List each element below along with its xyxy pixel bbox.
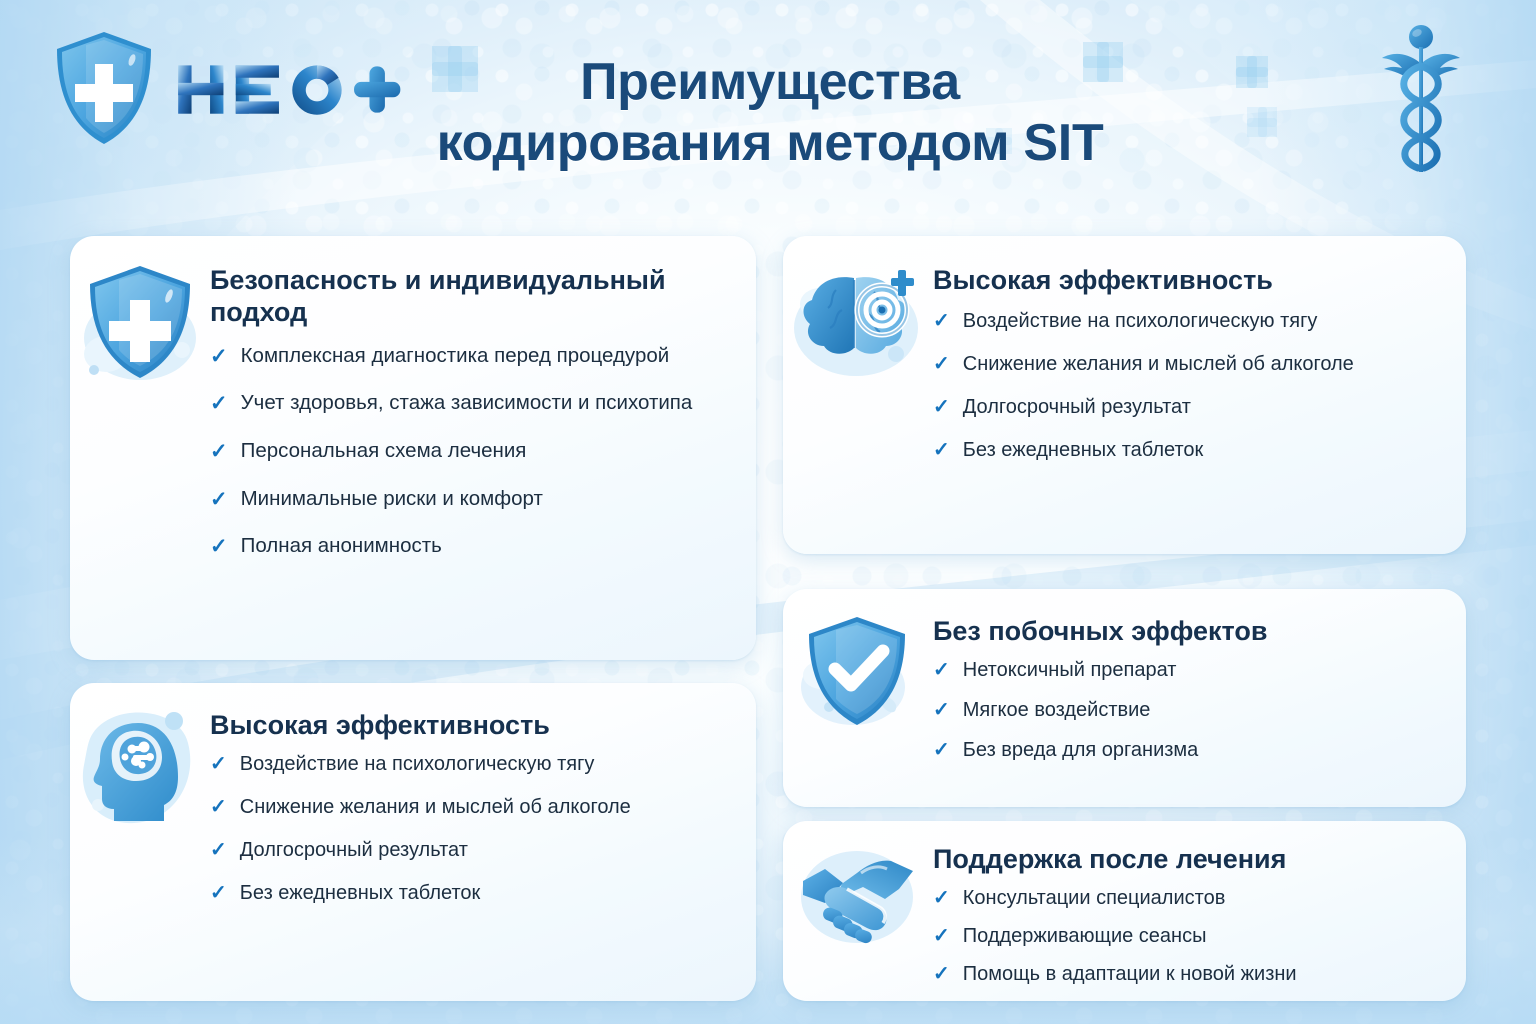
- list-item-label: Полная анонимность: [241, 533, 730, 560]
- list-item: ✓ Поддерживающие сеансы: [933, 923, 1448, 949]
- check-icon: ✓: [210, 880, 227, 903]
- list-item: ✓ Нетоксичный препарат: [933, 657, 1446, 683]
- card-icon-wrap: [783, 821, 933, 1001]
- check-icon: ✓: [933, 437, 950, 460]
- head-brain-icon: [76, 701, 204, 831]
- check-icon: ✓: [210, 343, 228, 367]
- list-item: ✓ Долгосрочный результат: [210, 837, 734, 863]
- list-item: ✓ Без вреда для организма: [933, 737, 1446, 763]
- card-icon-wrap: [783, 236, 933, 554]
- check-icon: ✓: [210, 390, 228, 414]
- list-item-label: Воздействие на психологическую тягу: [240, 751, 734, 777]
- check-icon: ✓: [933, 885, 950, 908]
- list-item: ✓ Учет здоровья, стажа зависимости и пси…: [210, 390, 730, 417]
- card-effectiveness-left[interactable]: Высокая эффективность ✓ Воздействие на п…: [70, 683, 756, 1001]
- bullet-list: ✓ Консультации специалистов ✓ Поддержива…: [933, 885, 1448, 987]
- check-icon: ✓: [933, 923, 950, 946]
- card-effectiveness-right[interactable]: Высокая эффективность ✓ Воздействие на п…: [783, 236, 1466, 554]
- list-item: ✓ Полная анонимность: [210, 533, 730, 560]
- list-item: ✓ Консультации специалистов: [933, 885, 1448, 911]
- list-item: ✓ Воздействие на психологическую тягу: [933, 308, 1446, 334]
- list-item-label: Помощь в адаптации к новой жизни: [963, 961, 1448, 987]
- card-title: Без побочных эффектов: [933, 615, 1446, 647]
- list-item-label: Учет здоровья, стажа зависимости и психо…: [241, 390, 730, 417]
- card-icon-wrap: [70, 683, 210, 1001]
- card-title: Высокая эффективность: [210, 709, 734, 741]
- list-item-label: Консультации специалистов: [963, 885, 1448, 911]
- list-item-label: Воздействие на психологическую тягу: [963, 308, 1446, 334]
- check-icon: ✓: [210, 837, 227, 860]
- page-title-line-1: Преимущества: [580, 53, 960, 111]
- bullet-list: ✓ Комплексная диагностика перед процедур…: [210, 343, 730, 560]
- card-support[interactable]: Поддержка после лечения ✓ Консультации с…: [783, 821, 1466, 1001]
- check-icon: ✓: [933, 394, 950, 417]
- list-item-label: Комплексная диагностика перед процедурой: [241, 343, 730, 370]
- list-item: ✓ Мягкое воздействие: [933, 697, 1446, 723]
- check-icon: ✓: [933, 697, 950, 720]
- list-item-label: Долгосрочный результат: [963, 394, 1446, 420]
- card-title: Поддержка после лечения: [933, 843, 1448, 875]
- card-title: Безопасность и индивидуальный подход: [210, 264, 730, 329]
- shield-cross-icon: [76, 258, 204, 390]
- list-item-label: Персональная схема лечения: [241, 438, 730, 465]
- card-icon-wrap: [70, 236, 210, 660]
- list-item: ✓ Персональная схема лечения: [210, 438, 730, 465]
- shield-cross-icon: [50, 28, 158, 148]
- check-icon: ✓: [933, 657, 950, 680]
- list-item-label: Минимальные риски и комфорт: [241, 486, 730, 513]
- brain-target-icon: [790, 258, 926, 384]
- check-icon: ✓: [933, 351, 950, 374]
- check-icon: ✓: [210, 486, 228, 510]
- bullet-list: ✓ Нетоксичный препарат ✓ Мягкое воздейст…: [933, 657, 1446, 763]
- list-item: ✓ Снижение желания и мыслей об алкоголе: [933, 351, 1446, 377]
- list-item-label: Без вреда для организма: [963, 737, 1446, 763]
- list-item: ✓ Без ежедневных таблеток: [210, 880, 734, 906]
- shield-check-icon: [795, 609, 921, 735]
- list-item-label: Мягкое воздействие: [963, 697, 1446, 723]
- infographic-canvas: Преимущества кодирования методом SIT: [0, 0, 1536, 1024]
- list-item: ✓ Воздействие на психологическую тягу: [210, 751, 734, 777]
- check-icon: ✓: [933, 737, 950, 760]
- list-item-label: Без ежедневных таблеток: [963, 437, 1446, 463]
- page-title: Преимущества кодирования методом SIT: [330, 52, 1210, 175]
- card-safety[interactable]: Безопасность и индивидуальный подход ✓ К…: [70, 236, 756, 660]
- check-icon: ✓: [210, 794, 227, 817]
- check-icon: ✓: [210, 751, 227, 774]
- card-no-side-effects[interactable]: Без побочных эффектов ✓ Нетоксичный преп…: [783, 589, 1466, 807]
- list-item-label: Поддерживающие сеансы: [963, 923, 1448, 949]
- check-icon: ✓: [210, 533, 228, 557]
- page-header: Преимущества кодирования методом SIT: [0, 0, 1536, 215]
- list-item: ✓ Комплексная диагностика перед процедур…: [210, 343, 730, 370]
- list-item: ✓ Долгосрочный результат: [933, 394, 1446, 420]
- list-item-label: Нетоксичный препарат: [963, 657, 1446, 683]
- bullet-list: ✓ Воздействие на психологическую тягу ✓ …: [210, 751, 734, 906]
- caduceus-icon: [1378, 22, 1464, 187]
- check-icon: ✓: [210, 438, 228, 462]
- list-item-label: Без ежедневных таблеток: [240, 880, 734, 906]
- bullet-list: ✓ Воздействие на психологическую тягу ✓ …: [933, 308, 1446, 463]
- check-icon: ✓: [933, 308, 950, 331]
- card-icon-wrap: [783, 589, 933, 807]
- list-item: ✓ Минимальные риски и комфорт: [210, 486, 730, 513]
- list-item-label: Долгосрочный результат: [240, 837, 734, 863]
- check-icon: ✓: [933, 961, 950, 984]
- handshake-icon: [795, 837, 921, 957]
- list-item: ✓ Без ежедневных таблеток: [933, 437, 1446, 463]
- list-item: ✓ Снижение желания и мыслей об алкоголе: [210, 794, 734, 820]
- page-title-line-2: кодирования методом SIT: [330, 113, 1210, 174]
- list-item-label: Снижение желания и мыслей об алкоголе: [963, 351, 1446, 377]
- card-title: Высокая эффективность: [933, 264, 1446, 296]
- list-item: ✓ Помощь в адаптации к новой жизни: [933, 961, 1448, 987]
- list-item-label: Снижение желания и мыслей об алкоголе: [240, 794, 734, 820]
